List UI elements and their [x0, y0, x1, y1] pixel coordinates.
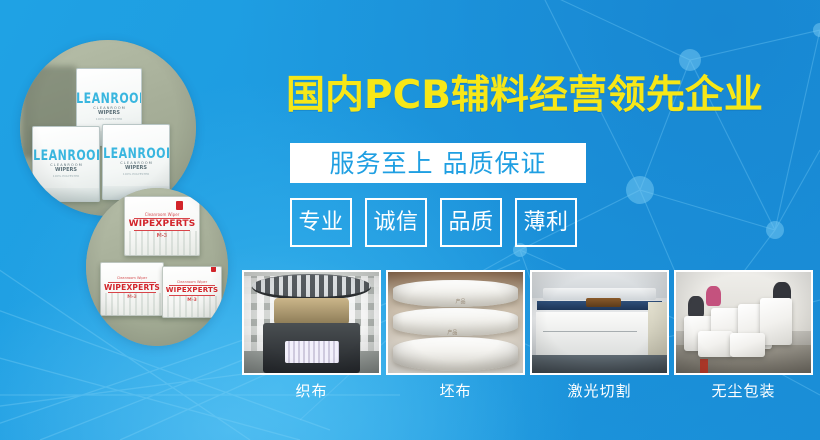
- photo-vignette: [388, 272, 523, 373]
- process-caption: 无尘包装: [711, 384, 775, 399]
- photo-vignette: [86, 188, 228, 346]
- keyword-tag-pinzhi[interactable]: 品质: [440, 198, 502, 247]
- subtitle-bar: 服务至上 品质保证: [290, 143, 586, 183]
- page-title: 国内PCB辅料经营领先企业: [286, 76, 763, 115]
- keyword-tag-baoli[interactable]: 薄利: [515, 198, 577, 247]
- process-caption: 织布: [295, 384, 327, 399]
- process-step-greige-fabric[interactable]: 产品 产品 坯布: [386, 270, 525, 399]
- process-caption: 激光切割: [567, 384, 631, 399]
- keyword-tag-label: 品质: [448, 212, 493, 234]
- keyword-tag-label: 诚信: [373, 212, 418, 234]
- process-step-cleanroom-packing[interactable]: 无尘包装: [674, 270, 813, 399]
- keyword-tag-zhuanye[interactable]: 专业: [290, 198, 352, 247]
- process-step-laser-cutting[interactable]: 激光切割: [530, 270, 669, 399]
- keyword-tag-chengxin[interactable]: 诚信: [365, 198, 427, 247]
- photo-vignette: [244, 272, 379, 373]
- process-thumbnail-list: 织布 产品 产品 坯布: [242, 270, 813, 399]
- process-thumbnail-image: 产品 产品: [386, 270, 525, 375]
- process-thumbnail-image: [530, 270, 669, 375]
- process-step-weaving[interactable]: 织布: [242, 270, 381, 399]
- product-circle-wipexperts: Cleanroom Wiper WIPEXPERTS M-3 Cleanroom…: [86, 188, 228, 346]
- process-thumbnail-image: [674, 270, 813, 375]
- keyword-tag-label: 薄利: [523, 212, 568, 234]
- promo-banner: CLEANROOM C L E A N R O O M WIPERS 100% …: [0, 0, 820, 440]
- keyword-tag-list: 专业 诚信 品质 薄利: [290, 198, 577, 247]
- photo-vignette: [676, 272, 811, 373]
- keyword-tag-label: 专业: [298, 212, 343, 234]
- process-thumbnail-image: [242, 270, 381, 375]
- process-caption: 坯布: [439, 384, 471, 399]
- subtitle-text: 服务至上 品质保证: [330, 151, 547, 176]
- photo-vignette: [532, 272, 667, 373]
